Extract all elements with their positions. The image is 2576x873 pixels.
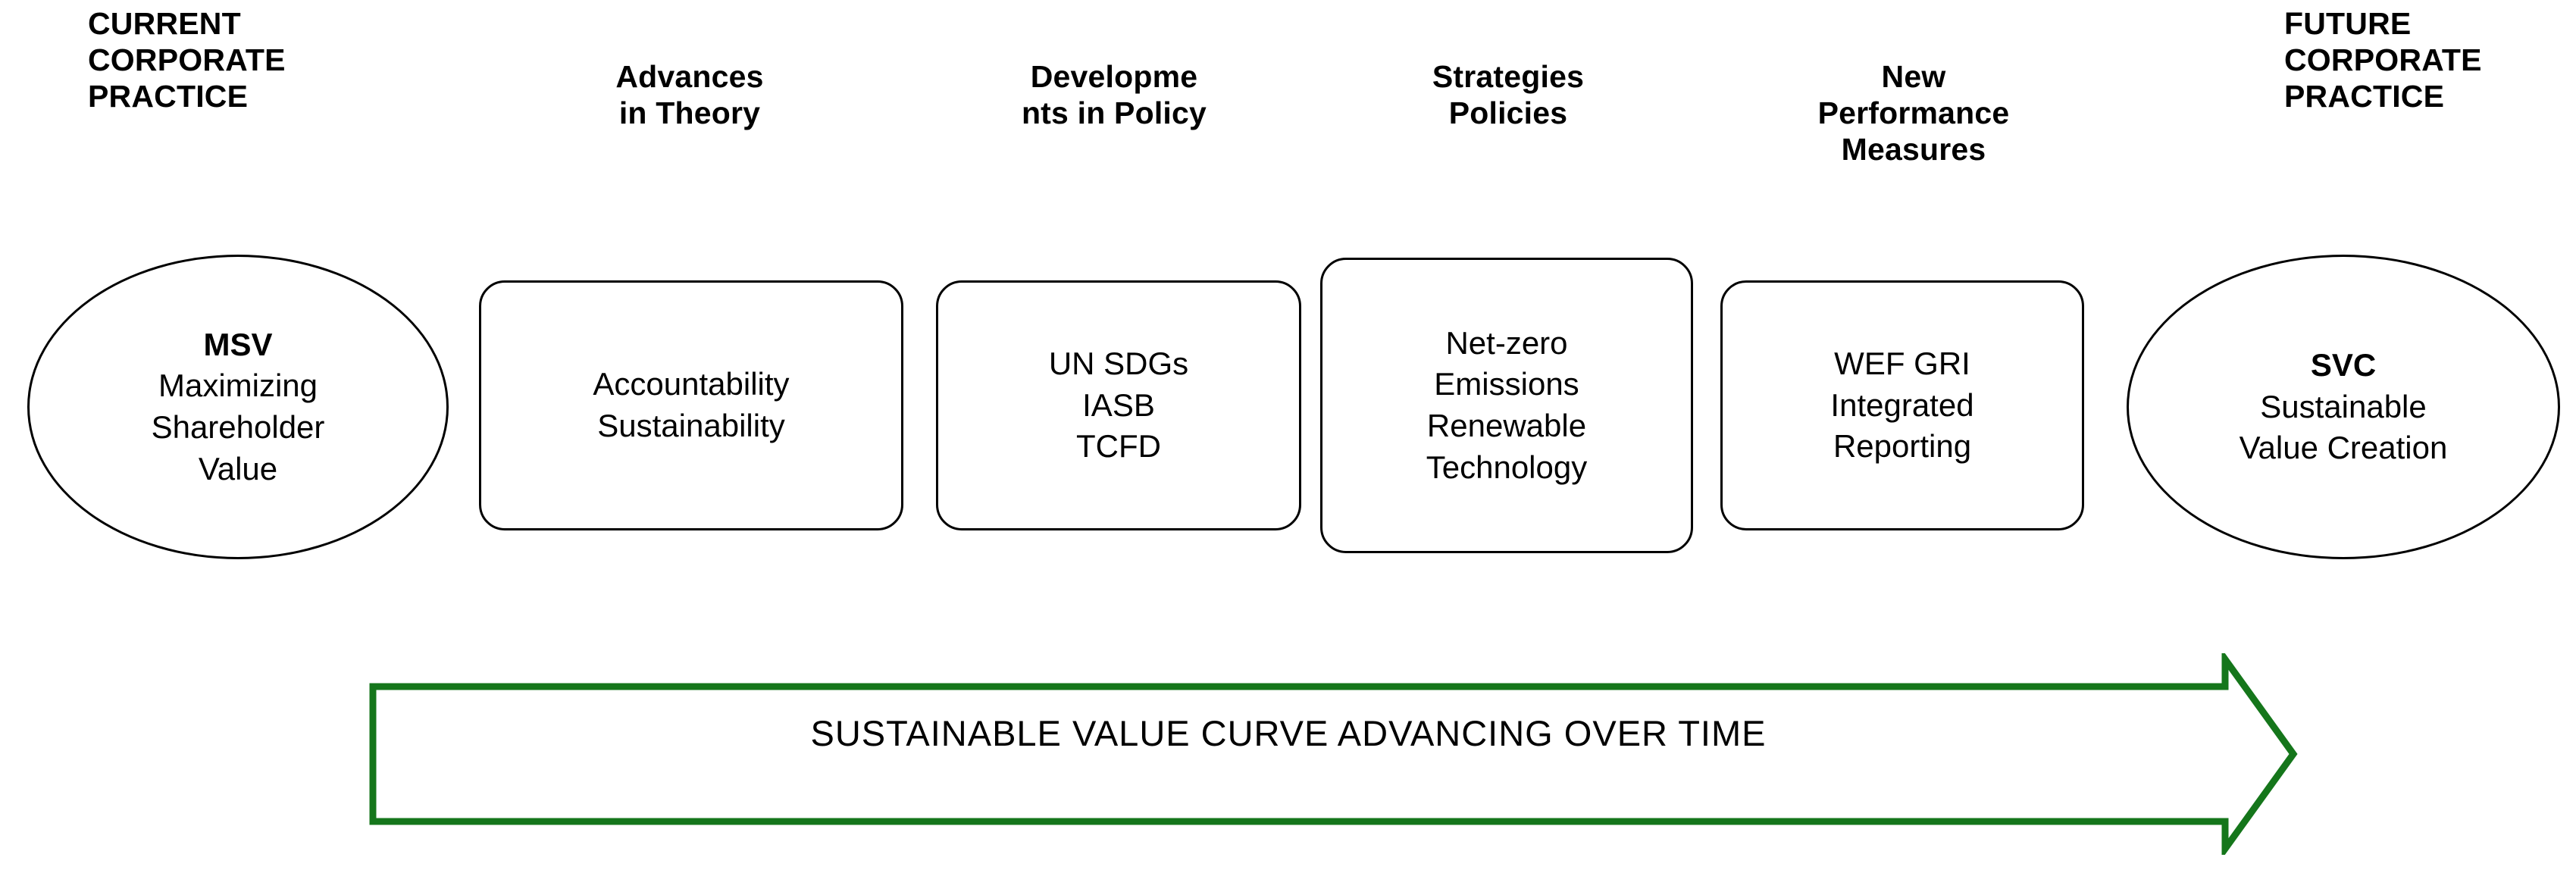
- column-header-strategies-policies: Strategies Policies: [1357, 59, 1660, 132]
- node-msv-ellipse: MSV Maximizing Shareholder Value: [27, 255, 449, 559]
- node-theory-line-1: Accountability: [593, 364, 789, 405]
- column-header-current-corporate-practice: CURRENT CORPORATE PRACTICE: [88, 6, 406, 115]
- node-msv-line-2: Maximizing: [158, 365, 318, 407]
- diagram-canvas: CURRENT CORPORATE PRACTICE Advances in T…: [0, 0, 2576, 873]
- node-msv-line-3: Shareholder: [152, 407, 325, 449]
- node-svc-ellipse: SVC Sustainable Value Creation: [2127, 255, 2560, 559]
- column-header-new-performance-measures: New Performance Measures: [1743, 59, 2084, 168]
- node-measures-line-3: Reporting: [1833, 426, 1971, 468]
- column-header-developments-in-policy: Developme nts in Policy: [951, 59, 1277, 132]
- node-developments-in-policy-box: UN SDGs IASB TCFD: [936, 280, 1301, 530]
- node-msv-line-4: Value: [199, 449, 277, 490]
- column-header-advances-in-theory: Advances in Theory: [531, 59, 849, 132]
- node-new-performance-measures-box: WEF GRI Integrated Reporting: [1720, 280, 2084, 530]
- node-theory-line-2: Sustainability: [597, 405, 784, 447]
- node-measures-line-1: WEF GRI: [1834, 343, 1970, 385]
- node-strategies-line-3: Renewable: [1427, 405, 1586, 447]
- node-strategies-line-1: Net-zero: [1445, 323, 1567, 365]
- column-header-future-corporate-practice: FUTURE CORPORATE PRACTICE: [2284, 6, 2576, 115]
- arrow-right-icon: [356, 653, 2304, 855]
- node-policy-line-3: TCFD: [1076, 426, 1161, 468]
- node-measures-line-2: Integrated: [1830, 385, 1973, 427]
- node-svc-line-2: Sustainable: [2260, 386, 2427, 428]
- node-svc-line-1: SVC: [2311, 345, 2376, 386]
- node-policy-line-2: IASB: [1082, 385, 1155, 427]
- node-svc-line-3: Value Creation: [2240, 427, 2448, 469]
- node-msv-line-1: MSV: [203, 324, 272, 366]
- node-policy-line-1: UN SDGs: [1049, 343, 1188, 385]
- node-strategies-policies-box: Net-zero Emissions Renewable Technology: [1320, 258, 1693, 553]
- arrow-outline-shape: [373, 659, 2293, 849]
- node-advances-in-theory-box: Accountability Sustainability: [479, 280, 903, 530]
- sustainable-value-curve-arrow: [356, 653, 2304, 855]
- node-strategies-line-4: Technology: [1426, 447, 1587, 489]
- node-strategies-line-2: Emissions: [1434, 364, 1579, 405]
